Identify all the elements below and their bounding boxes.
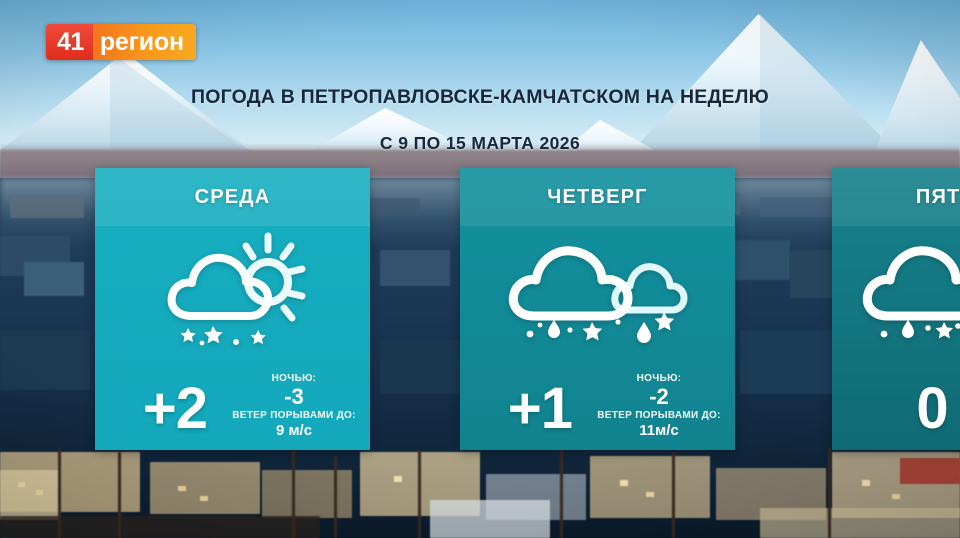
card-details: НОЧЬЮ: -2 ВЕТЕР ПОРЫВАМИ ДО: 11м/с: [589, 373, 729, 440]
night-temperature: -2: [589, 385, 729, 409]
card-header: ПЯТНИЦА: [832, 168, 960, 226]
forecast-card[interactable]: ПЯТНИЦА 0: [832, 168, 960, 450]
sun-behind-cloud-with-snow-icon: [95, 226, 370, 356]
card-header: ЧЕТВЕРГ: [460, 168, 735, 226]
wind-speed: 11м/с: [589, 422, 729, 440]
day-name: ПЯТНИЦА: [916, 186, 960, 209]
wind-label: ВЕТЕР ПОРЫВАМИ ДО:: [224, 410, 364, 421]
day-temperature: 0: [868, 380, 960, 438]
forecast-card[interactable]: ЧЕТВЕРГ: [460, 168, 735, 450]
wind-speed: 9 м/с: [224, 422, 364, 440]
day-name: СРЕДА: [195, 186, 271, 209]
card-bottom: +1 НОЧЬЮ: -2 ВЕТЕР ПОРЫВАМИ ДО: 11м/с: [460, 354, 735, 446]
night-label: НОЧЬЮ:: [224, 373, 364, 384]
wind-label: ВЕТЕР ПОРЫВАМИ ДО:: [589, 410, 729, 421]
two-clouds-with-rain-and-snow-icon: [460, 226, 735, 356]
forecast-card[interactable]: СРЕДА: [95, 168, 370, 450]
forecast-card-list: СРЕДА: [0, 0, 960, 538]
card-bottom: 0: [832, 354, 960, 446]
day-name: ЧЕТВЕРГ: [547, 186, 647, 209]
card-bottom: +2 НОЧЬЮ: -3 ВЕТЕР ПОРЫВАМИ ДО: 9 м/с: [95, 354, 370, 446]
card-header: СРЕДА: [95, 168, 370, 226]
day-temperature: +1: [476, 380, 604, 438]
cloud-with-rain-and-snow-icon: [832, 226, 960, 356]
night-temperature: -3: [224, 385, 364, 409]
weather-broadcast-graphic: 41 регион ПОГОДА В ПЕТРОПАВЛОВСКЕ-КАМЧАТ…: [0, 0, 960, 538]
night-label: НОЧЬЮ:: [589, 373, 729, 384]
card-details: НОЧЬЮ: -3 ВЕТЕР ПОРЫВАМИ ДО: 9 м/с: [224, 373, 364, 440]
day-temperature: +2: [111, 380, 239, 438]
